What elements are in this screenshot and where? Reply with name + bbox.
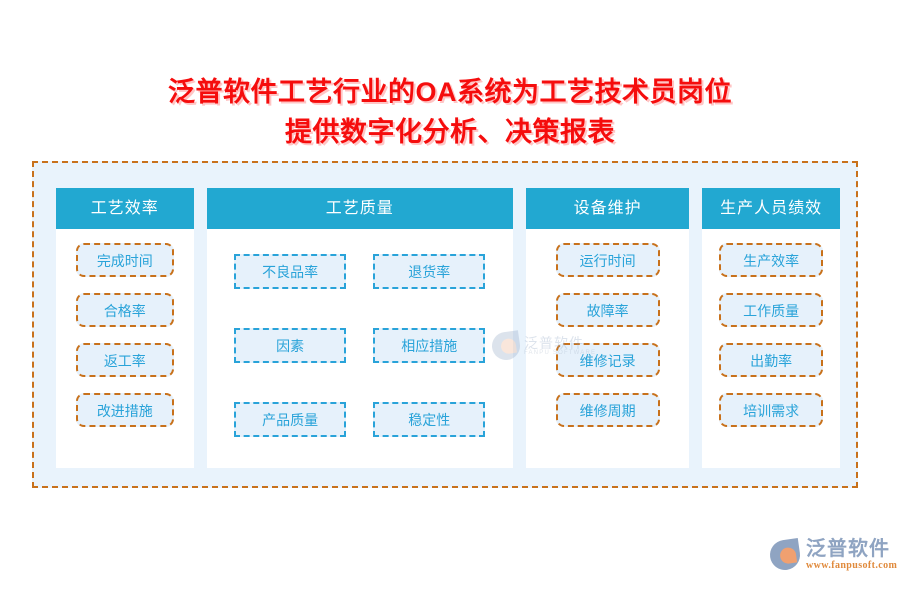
page-title-line-2: 提供数字化分析、决策报表 — [0, 112, 900, 152]
diagram-panel: 工艺效率 完成时间 合格率 返工率 改进措施 工艺质量 不良品率 退货率 因素 … — [32, 161, 858, 488]
item-quality-2[interactable]: 因素 — [234, 328, 346, 363]
column-header-equipment: 设备维护 — [526, 188, 690, 229]
column-body-staff: 生产效率 工作质量 出勤率 培训需求 — [702, 229, 840, 468]
brand-website-url: www.fanpusoft.com — [806, 560, 897, 571]
item-staff-3[interactable]: 培训需求 — [719, 393, 823, 427]
column-staff[interactable]: 生产人员绩效 生产效率 工作质量 出勤率 培训需求 — [702, 188, 840, 468]
item-quality-1[interactable]: 退货率 — [373, 254, 485, 289]
column-body-quality: 不良品率 退货率 因素 相应措施 产品质量 稳定性 — [207, 229, 513, 468]
brand-logo: 泛普软件 www.fanpusoft.com — [770, 538, 897, 571]
item-equipment-0[interactable]: 运行时间 — [556, 243, 660, 277]
item-efficiency-1[interactable]: 合格率 — [76, 293, 174, 327]
item-efficiency-3[interactable]: 改进措施 — [76, 393, 174, 427]
item-staff-2[interactable]: 出勤率 — [719, 343, 823, 377]
page-title: 泛普软件工艺行业的OA系统为工艺技术员岗位 提供数字化分析、决策报表 — [0, 72, 900, 152]
item-staff-0[interactable]: 生产效率 — [719, 243, 823, 277]
item-equipment-1[interactable]: 故障率 — [556, 293, 660, 327]
column-container: 工艺效率 完成时间 合格率 返工率 改进措施 工艺质量 不良品率 退货率 因素 … — [56, 188, 840, 468]
item-staff-1[interactable]: 工作质量 — [719, 293, 823, 327]
brand-name-cn: 泛普软件 — [806, 538, 897, 560]
item-efficiency-2[interactable]: 返工率 — [76, 343, 174, 377]
column-body-efficiency: 完成时间 合格率 返工率 改进措施 — [56, 229, 194, 468]
page-title-line-1: 泛普软件工艺行业的OA系统为工艺技术员岗位 — [0, 72, 900, 112]
column-quality[interactable]: 工艺质量 不良品率 退货率 因素 相应措施 产品质量 稳定性 — [207, 188, 513, 468]
item-quality-5[interactable]: 稳定性 — [373, 402, 485, 437]
item-efficiency-0[interactable]: 完成时间 — [76, 243, 174, 277]
column-body-equipment: 运行时间 故障率 维修记录 维修周期 — [526, 229, 690, 468]
column-efficiency[interactable]: 工艺效率 完成时间 合格率 返工率 改进措施 — [56, 188, 194, 468]
column-header-efficiency: 工艺效率 — [56, 188, 194, 229]
column-header-quality: 工艺质量 — [207, 188, 513, 229]
item-equipment-3[interactable]: 维修周期 — [556, 393, 660, 427]
item-quality-0[interactable]: 不良品率 — [234, 254, 346, 289]
fanpu-swoosh-icon — [768, 538, 802, 572]
item-equipment-2[interactable]: 维修记录 — [556, 343, 660, 377]
column-equipment[interactable]: 设备维护 运行时间 故障率 维修记录 维修周期 — [526, 188, 690, 468]
brand-logo-text: 泛普软件 www.fanpusoft.com — [806, 538, 897, 571]
item-quality-4[interactable]: 产品质量 — [234, 402, 346, 437]
item-quality-3[interactable]: 相应措施 — [373, 328, 485, 363]
column-header-staff: 生产人员绩效 — [702, 188, 840, 229]
